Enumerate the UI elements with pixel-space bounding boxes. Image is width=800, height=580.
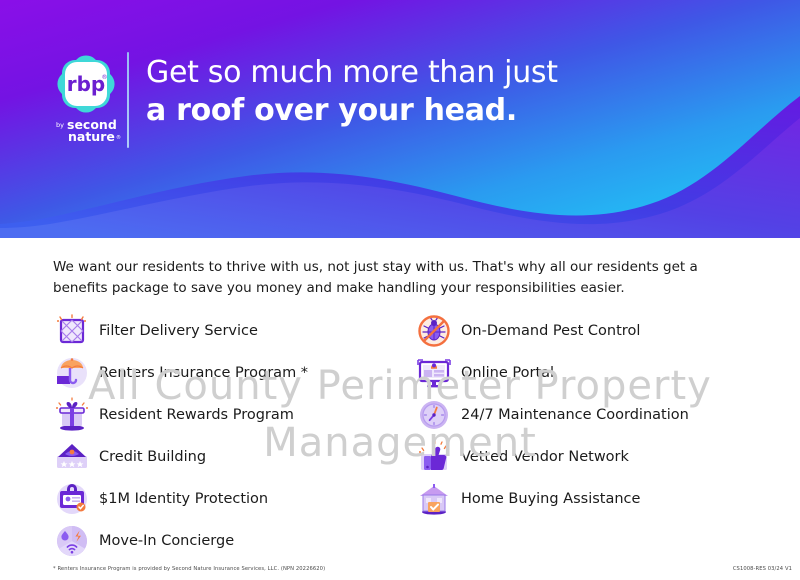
thumbs-up-icon — [415, 438, 453, 476]
filter-icon — [53, 312, 91, 350]
rbp-logo-mark: rbp ® — [53, 55, 119, 117]
credit-stars-icon — [53, 438, 91, 476]
rbp-logo-text: rbp — [67, 72, 106, 96]
benefit-filter-delivery-service[interactable]: Filter Delivery Service — [53, 310, 403, 352]
benefit-label: On-Demand Pest Control — [461, 323, 640, 339]
benefit-label: Filter Delivery Service — [99, 323, 258, 339]
utilities-icon — [53, 522, 91, 560]
benefit-label: 24/7 Maintenance Coordination — [461, 407, 689, 423]
footer-disclaimer: * Renters Insurance Program is provided … — [53, 566, 325, 572]
rbp-benefits-flyer: rbp ® by second nature ® Get so much mor… — [0, 0, 800, 580]
benefit-vetted-vendor-network[interactable]: Vetted Vendor Network — [415, 436, 765, 478]
headline-line-1: Get so much more than just — [146, 54, 746, 92]
no-pest-icon — [415, 312, 453, 350]
benefits-column-left: Filter Delivery Service Renters Insuranc… — [53, 310, 403, 562]
gift-icon — [53, 396, 91, 434]
clock-icon — [415, 396, 453, 434]
benefit-credit-building[interactable]: Credit Building — [53, 436, 403, 478]
footer-code: CS1008-RES 03/24 V1 — [733, 566, 792, 572]
benefit-identity-protection[interactable]: $1M Identity Protection — [53, 478, 403, 520]
benefit-maintenance-coordination[interactable]: 24/7 Maintenance Coordination — [415, 394, 765, 436]
house-check-icon — [415, 480, 453, 518]
benefit-resident-rewards-program[interactable]: Resident Rewards Program — [53, 394, 403, 436]
benefits-grid: Filter Delivery Service Renters Insuranc… — [0, 310, 800, 560]
headline-line-2: a roof over your head. — [146, 92, 746, 130]
id-wallet-icon — [53, 480, 91, 518]
rbp-logo: rbp ® by second nature ® — [50, 55, 122, 147]
wordmark-nature: nature — [68, 129, 115, 144]
benefit-move-in-concierge[interactable]: Move-In Concierge — [53, 520, 403, 562]
benefit-label: Move-In Concierge — [99, 533, 234, 549]
hero-headline: Get so much more than just a roof over y… — [146, 54, 746, 130]
benefit-label: Home Buying Assistance — [461, 491, 640, 507]
second-nature-wordmark: by second nature ® — [50, 117, 122, 147]
benefit-label: Resident Rewards Program — [99, 407, 294, 423]
rbp-logo-trademark: ® — [102, 74, 108, 81]
benefits-column-right: On-Demand Pest Control — [415, 310, 765, 520]
benefit-on-demand-pest-control[interactable]: On-Demand Pest Control — [415, 310, 765, 352]
benefit-home-buying-assistance[interactable]: Home Buying Assistance — [415, 478, 765, 520]
benefit-label: Vetted Vendor Network — [461, 449, 629, 465]
hero-divider — [127, 52, 129, 148]
monitor-icon — [415, 354, 453, 392]
wordmark-trademark: ® — [116, 134, 121, 141]
umbrella-icon — [53, 354, 91, 392]
benefit-label: Renters Insurance Program * — [99, 365, 308, 381]
intro-paragraph: We want our residents to thrive with us,… — [53, 257, 728, 299]
benefit-label: Online Portal — [461, 365, 554, 381]
benefit-label: Credit Building — [99, 449, 206, 465]
benefit-label: $1M Identity Protection — [99, 491, 268, 507]
benefit-renters-insurance-program[interactable]: Renters Insurance Program * — [53, 352, 403, 394]
wordmark-by: by — [56, 121, 64, 129]
hero-banner: rbp ® by second nature ® Get so much mor… — [0, 0, 800, 238]
benefit-online-portal[interactable]: Online Portal — [415, 352, 765, 394]
